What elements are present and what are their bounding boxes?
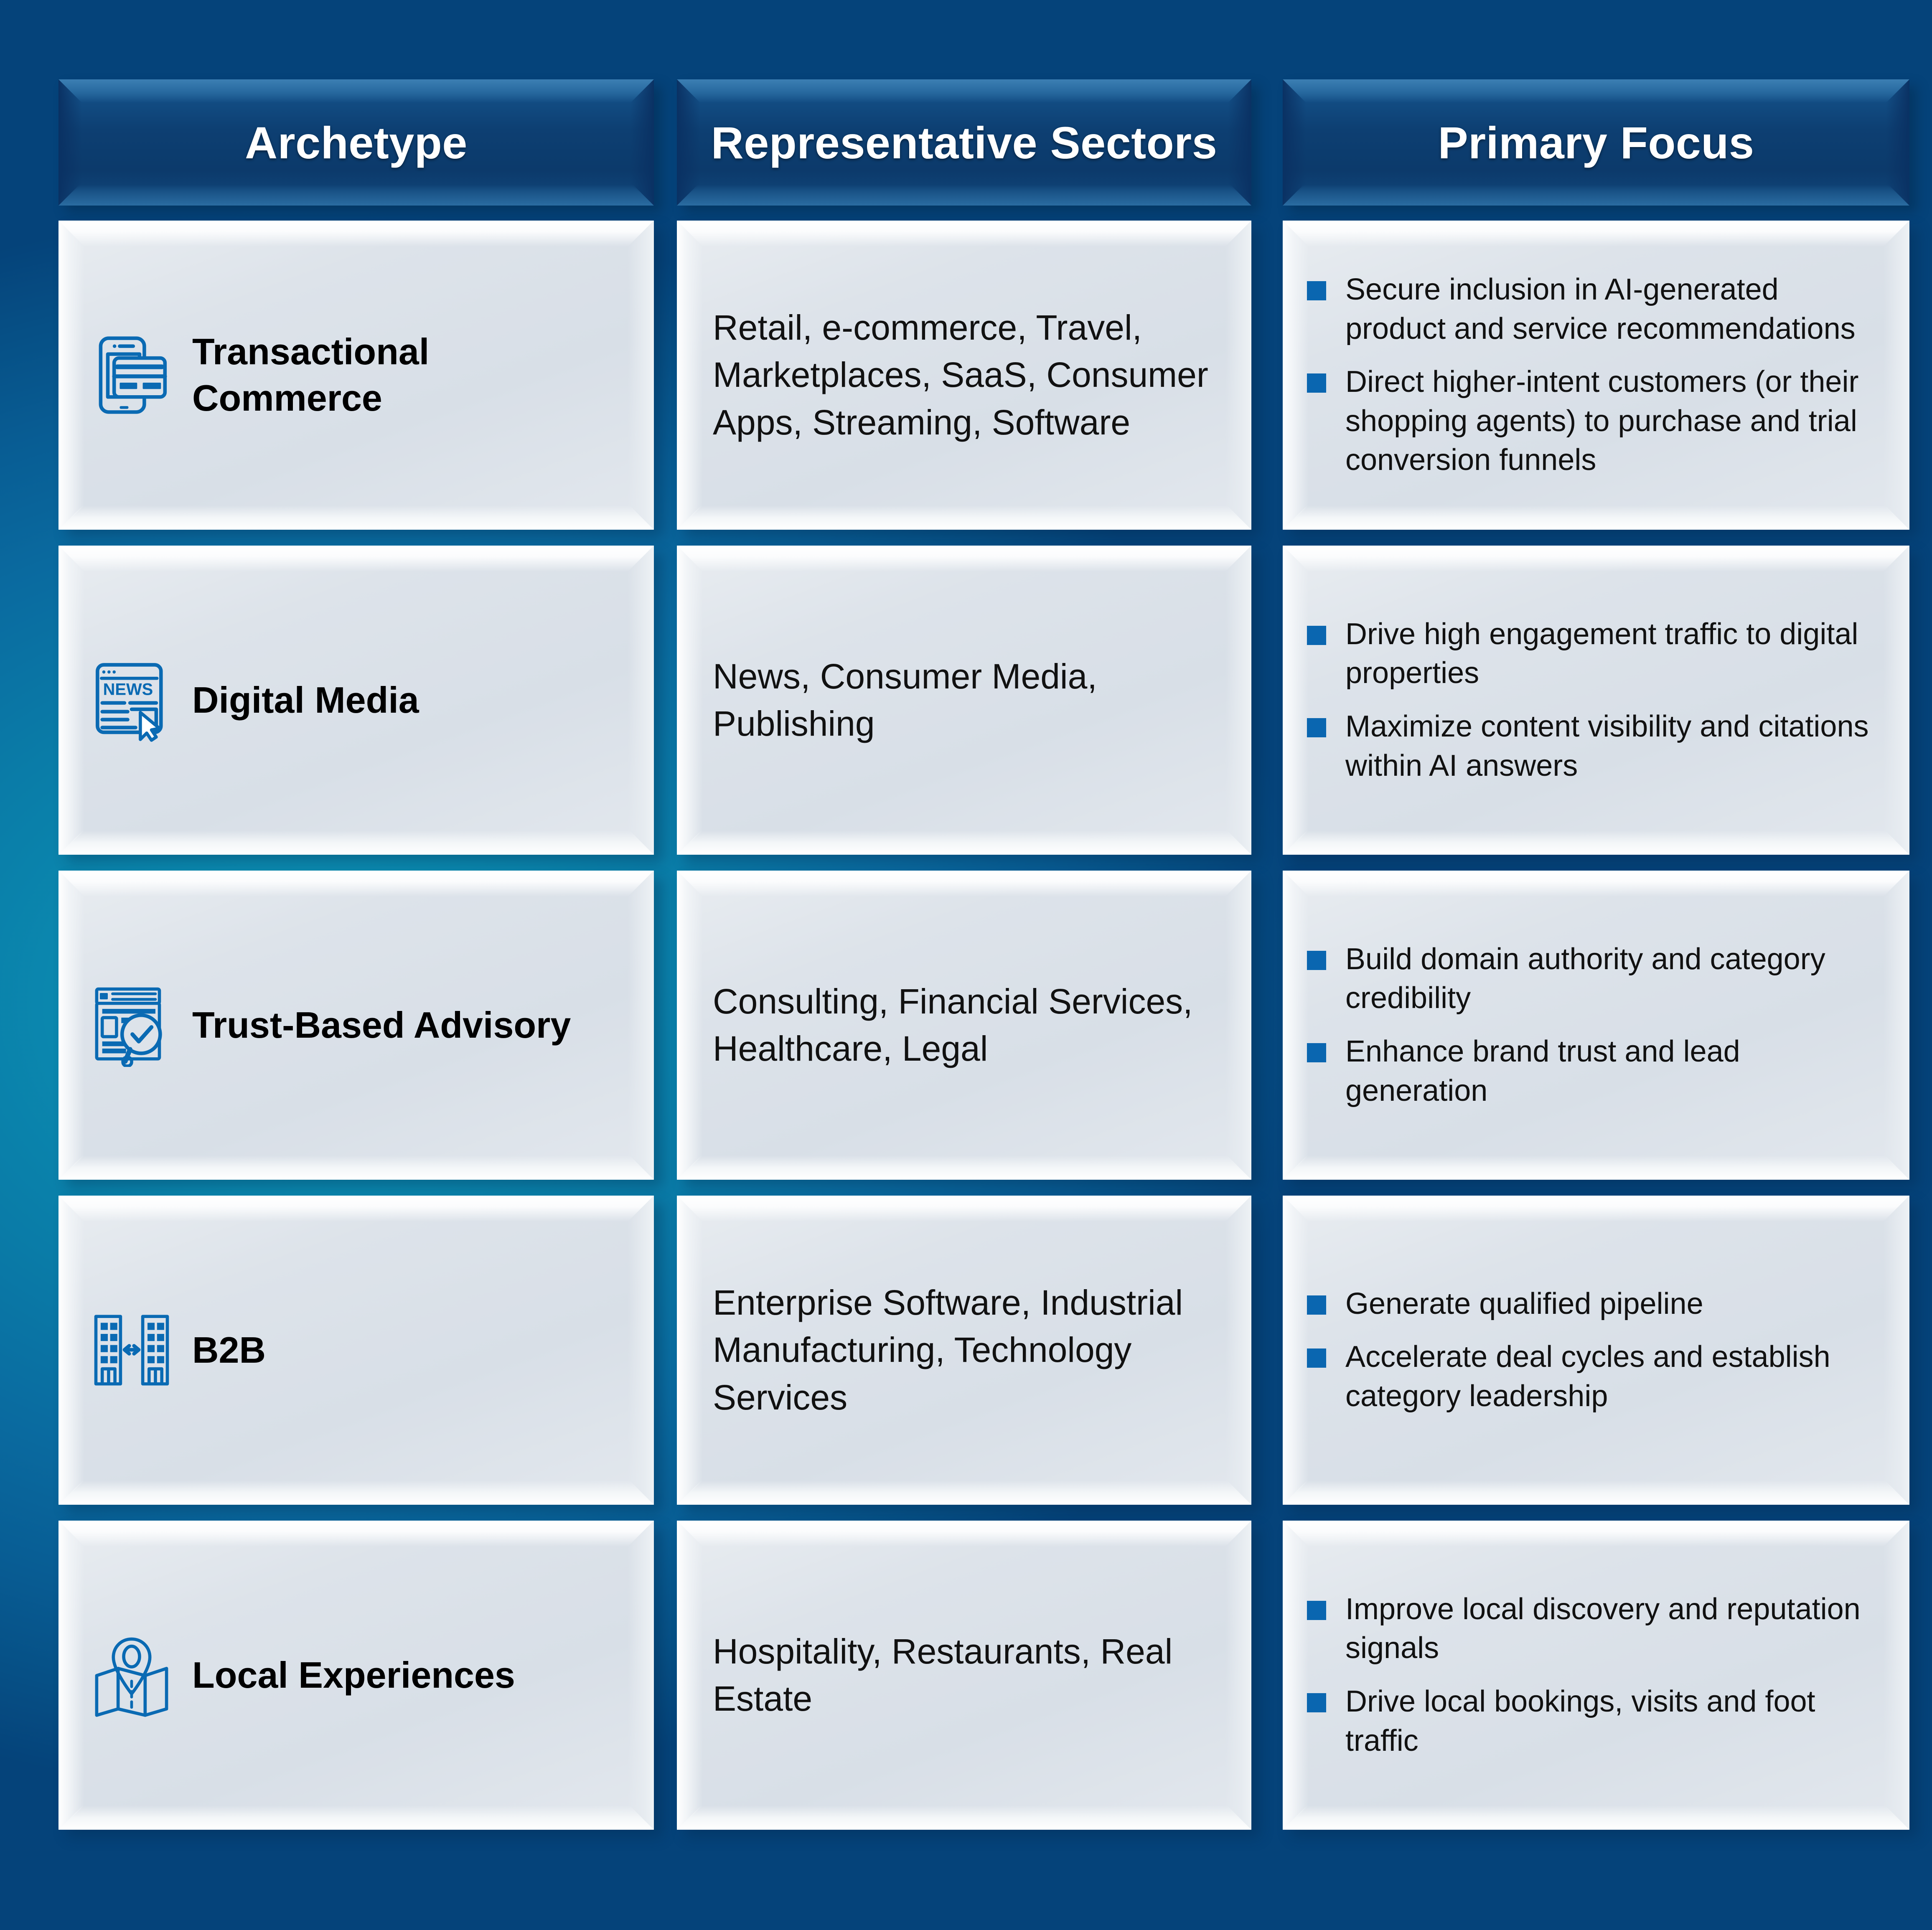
table-row: Local ExperiencesHospitality, Restaurant… — [58, 1521, 1876, 1830]
table-row: Transactional CommerceRetail, e-commerce… — [58, 221, 1876, 530]
archetype-cell: Local Experiences — [58, 1521, 654, 1830]
bullet-square-icon — [1307, 1601, 1326, 1620]
focus-bullet-item: Improve local discovery and reputation s… — [1307, 1590, 1884, 1668]
svg-text:NEWS: NEWS — [103, 681, 153, 699]
bullet-square-icon — [1307, 718, 1326, 737]
row-gap — [58, 1505, 1876, 1521]
focus-bullet-item: Maximize content visibility and citation… — [1307, 707, 1884, 785]
bullet-square-icon — [1307, 1348, 1326, 1368]
row-gap — [58, 855, 1876, 871]
column-gap — [654, 546, 677, 855]
map-location-pin-icon — [92, 1633, 171, 1717]
two-buildings-exchange-icon — [92, 1308, 171, 1392]
focus-text: Direct higher-intent customers (or their… — [1345, 363, 1884, 480]
focus-bullet-item: Drive high engagement traffic to digital… — [1307, 615, 1884, 693]
focus-bullet-item: Accelerate deal cycles and establish cat… — [1307, 1338, 1884, 1416]
archetype-cell: Trust-Based Advisory — [58, 871, 654, 1180]
sectors-text: Retail, e-commerce, Travel, Marketplaces… — [713, 304, 1218, 446]
representative-sectors-cell: Consulting, Financial Services, Healthca… — [677, 871, 1251, 1180]
focus-list: Improve local discovery and reputation s… — [1307, 1521, 1884, 1830]
archetype-label: Trust-Based Advisory — [192, 1002, 571, 1049]
column-gap — [654, 79, 677, 206]
bullet-square-icon — [1307, 281, 1326, 300]
column-gap — [654, 1521, 677, 1830]
primary-focus-cell: Build domain authority and category cred… — [1283, 871, 1909, 1180]
focus-list: Secure inclusion in AI-generated product… — [1307, 221, 1884, 530]
archetype-cell: Transactional Commerce — [58, 221, 654, 530]
archetype-label: Transactional Commerce — [192, 329, 625, 422]
focus-bullet-item: Generate qualified pipeline — [1307, 1285, 1884, 1324]
sectors-text: News, Consumer Media, Publishing — [713, 653, 1218, 748]
focus-list: Drive high engagement traffic to digital… — [1307, 546, 1884, 855]
primary-focus-cell: Improve local discovery and reputation s… — [1283, 1521, 1909, 1830]
column-gap — [1251, 1196, 1283, 1505]
header-cell-archetype: Archetype — [58, 79, 654, 206]
focus-text: Drive high engagement traffic to digital… — [1345, 615, 1884, 693]
focus-text: Drive local bookings, visits and foot tr… — [1345, 1682, 1884, 1760]
focus-text: Accelerate deal cycles and establish cat… — [1345, 1338, 1884, 1416]
column-gap — [1251, 1521, 1283, 1830]
header-label-archetype: Archetype — [58, 79, 654, 206]
column-gap — [654, 1196, 677, 1505]
news-browser-cursor-icon: NEWS — [92, 658, 171, 742]
sectors-text: Enterprise Software, Industrial Manufact… — [713, 1279, 1218, 1421]
table-row: NEWS Digital MediaNews, Consumer Media, … — [58, 546, 1876, 855]
bullet-square-icon — [1307, 373, 1326, 393]
focus-text: Generate qualified pipeline — [1345, 1285, 1703, 1324]
table-body: Transactional CommerceRetail, e-commerce… — [58, 221, 1876, 1830]
header-cell-representative-sectors: Representative Sectors — [677, 79, 1251, 206]
sectors-text: Hospitality, Restaurants, Real Estate — [713, 1628, 1218, 1723]
bullet-square-icon — [1307, 951, 1326, 970]
table-row: B2BEnterprise Software, Industrial Manuf… — [58, 1196, 1876, 1505]
focus-list: Build domain authority and category cred… — [1307, 871, 1884, 1180]
archetype-comparison-table: Archetype Representative Sectors Primary… — [0, 0, 1932, 1930]
column-gap — [1251, 871, 1283, 1180]
column-gap — [1251, 79, 1283, 206]
primary-focus-cell: Generate qualified pipelineAccelerate de… — [1283, 1196, 1909, 1505]
archetype-label: B2B — [192, 1327, 266, 1374]
table-row: Trust-Based AdvisoryConsulting, Financia… — [58, 871, 1876, 1180]
column-gap — [654, 221, 677, 530]
table-header-row: Archetype Representative Sectors Primary… — [58, 79, 1876, 206]
primary-focus-cell: Drive high engagement traffic to digital… — [1283, 546, 1909, 855]
bullet-square-icon — [1307, 1295, 1326, 1315]
representative-sectors-cell: Hospitality, Restaurants, Real Estate — [677, 1521, 1251, 1830]
document-verified-magnifier-icon — [92, 983, 171, 1067]
bullet-square-icon — [1307, 1693, 1326, 1712]
focus-bullet-item: Secure inclusion in AI-generated product… — [1307, 270, 1884, 348]
representative-sectors-cell: Enterprise Software, Industrial Manufact… — [677, 1196, 1251, 1505]
row-gap — [58, 530, 1876, 546]
focus-text: Build domain authority and category cred… — [1345, 940, 1884, 1018]
header-label-primary-focus: Primary Focus — [1283, 79, 1909, 206]
mobile-payment-icon — [92, 333, 171, 417]
bullet-square-icon — [1307, 1043, 1326, 1062]
focus-bullet-item: Enhance brand trust and lead generation — [1307, 1032, 1884, 1110]
archetype-cell: NEWS Digital Media — [58, 546, 654, 855]
header-label-representative-sectors: Representative Sectors — [677, 79, 1251, 206]
column-gap — [654, 871, 677, 1180]
focus-bullet-item: Drive local bookings, visits and foot tr… — [1307, 1682, 1884, 1760]
archetype-label: Digital Media — [192, 677, 419, 724]
column-gap — [1251, 221, 1283, 530]
representative-sectors-cell: Retail, e-commerce, Travel, Marketplaces… — [677, 221, 1251, 530]
primary-focus-cell: Secure inclusion in AI-generated product… — [1283, 221, 1909, 530]
focus-list: Generate qualified pipelineAccelerate de… — [1307, 1196, 1884, 1505]
focus-text: Maximize content visibility and citation… — [1345, 707, 1884, 785]
sectors-text: Consulting, Financial Services, Healthca… — [713, 978, 1218, 1073]
archetype-label: Local Experiences — [192, 1652, 515, 1699]
archetype-cell: B2B — [58, 1196, 654, 1505]
focus-text: Secure inclusion in AI-generated product… — [1345, 270, 1884, 348]
focus-bullet-item: Direct higher-intent customers (or their… — [1307, 363, 1884, 480]
bullet-square-icon — [1307, 626, 1326, 645]
column-gap — [1251, 546, 1283, 855]
focus-text: Improve local discovery and reputation s… — [1345, 1590, 1884, 1668]
representative-sectors-cell: News, Consumer Media, Publishing — [677, 546, 1251, 855]
row-gap — [58, 1180, 1876, 1196]
focus-text: Enhance brand trust and lead generation — [1345, 1032, 1884, 1110]
focus-bullet-item: Build domain authority and category cred… — [1307, 940, 1884, 1018]
row-gap — [58, 206, 1876, 221]
header-cell-primary-focus: Primary Focus — [1283, 79, 1909, 206]
